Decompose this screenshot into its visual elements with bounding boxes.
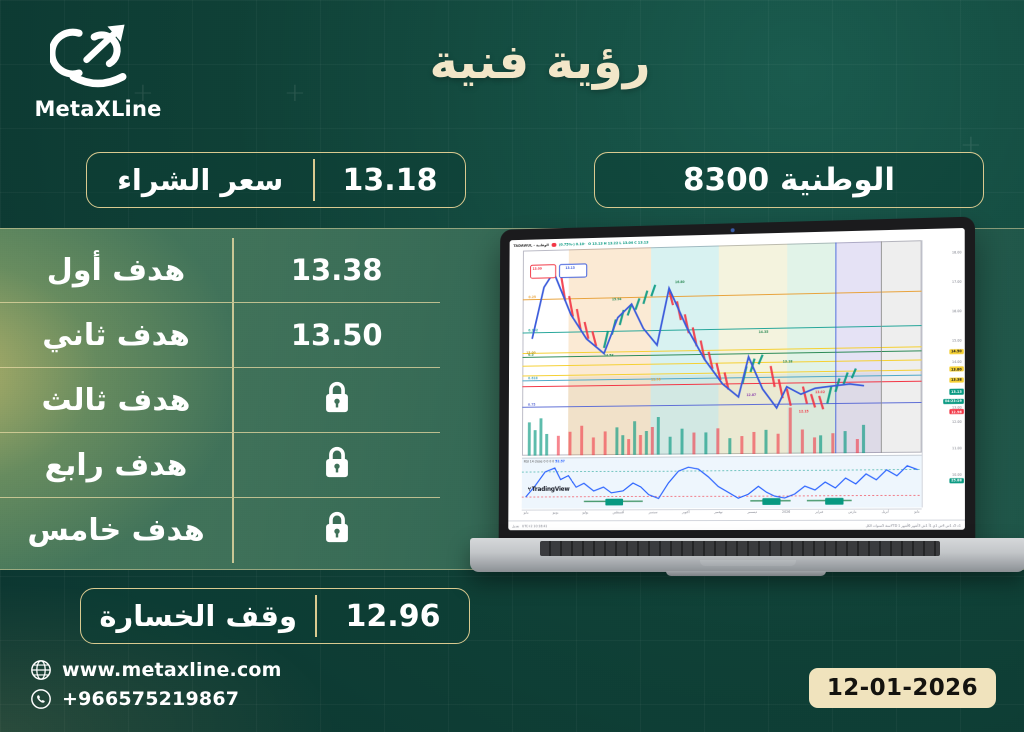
- chart-annotation: 13.18: [783, 359, 793, 363]
- time-tick: أكتوبر: [682, 510, 690, 520]
- stop-loss-value: 12.96: [317, 599, 469, 634]
- webcam-icon: [731, 228, 735, 232]
- time-tick: مايو: [524, 511, 529, 521]
- status-dot-icon: [552, 243, 556, 248]
- target-value: 13.38: [234, 253, 441, 287]
- page-title: رؤية فنية: [300, 34, 780, 90]
- metaxline-arrow-logo-icon: [50, 18, 146, 92]
- brand-name: MetaXLine: [28, 97, 168, 121]
- poster-canvas: + + + MetaXLine رؤية فنية الوطنية 8300 س…: [0, 0, 1024, 732]
- chart-annotation: 14.35: [759, 330, 769, 334]
- price-tag-stop: 12.96: [949, 409, 964, 414]
- status-left-group: تعديل UTC+2 10:16:41: [512, 524, 547, 528]
- stock-name-label: الوطنية 8300: [595, 162, 983, 198]
- footer-contact: www.metaxline.com +966575219867: [30, 659, 282, 710]
- price-tick: 14.00: [952, 360, 962, 364]
- price-tick: 17.00: [952, 280, 962, 284]
- chart-annotation: 15.00: [526, 351, 535, 355]
- target-value-locked: [234, 445, 441, 486]
- time-axis: مايو يونيو يوليو أغسطس سبتمبر أكتوبر نوف…: [522, 508, 922, 520]
- tradingview-chart: الوطنية - TADAWUL -0.10 (-0.75%) O 13.13…: [508, 228, 965, 530]
- price-tag-resistance: 13.80: [949, 366, 964, 371]
- price-tick: 10.00: [952, 473, 962, 477]
- targets-table: هدف أول 13.38 هدف ثاني 13.50 هدف ثالث هد: [0, 238, 440, 563]
- rsi-value: 52.57: [555, 459, 565, 463]
- rsi-header: RSI 14 close 0 0 0 0 52.57: [524, 459, 565, 463]
- buy-marker-label: 13.09: [532, 267, 541, 271]
- tradingview-logo: ⑂ TradingView: [528, 486, 570, 493]
- globe-icon: [30, 659, 52, 681]
- chart-annotation: 15.94: [612, 298, 622, 302]
- chart-annotation: 16.80: [675, 280, 685, 284]
- website-row[interactable]: www.metaxline.com: [30, 659, 282, 681]
- time-tick: سبتمبر: [649, 510, 658, 520]
- price-tag-volume: 25.88: [949, 478, 964, 483]
- buy-price-value: 13.18: [315, 163, 465, 198]
- volume-bars: [522, 404, 922, 456]
- entry-marker-label: 13.13: [565, 266, 574, 270]
- stop-loss-badge: وقف الخسارة 12.96: [80, 588, 470, 644]
- range-selector[interactable]: 1د 5د 1س 4س 1ي 1أ 1ش 3أشهر 6أشهر YTD 1سن…: [866, 523, 961, 527]
- price-tag-last: 13.13: [949, 389, 964, 394]
- row-divider: [232, 368, 234, 432]
- price-tag-target-high: 14.50: [949, 349, 964, 355]
- row-divider: [232, 433, 234, 497]
- table-row: هدف خامس: [0, 498, 440, 563]
- target-label: هدف رابع: [0, 448, 232, 483]
- rsi-line: [522, 456, 922, 509]
- row-divider: [232, 303, 234, 367]
- chart-annotation: 12.87: [746, 393, 756, 397]
- phone-row[interactable]: +966575219867: [30, 688, 282, 710]
- lock-icon: [322, 380, 352, 414]
- price-tick: 12.00: [952, 419, 962, 423]
- date-badge: 12-01-2026: [809, 668, 996, 708]
- buy-price-badge: سعر الشراء 13.18: [86, 152, 466, 208]
- phone-number[interactable]: +966575219867: [62, 688, 239, 710]
- target-value: 13.50: [234, 318, 441, 352]
- time-tick: ديسمبر: [747, 510, 757, 520]
- time-tick: يوليو: [582, 510, 588, 520]
- stop-loss-label: وقف الخسارة: [81, 599, 315, 633]
- rsi-pane: RSI 14 close 0 0 0 0 52.57: [522, 455, 922, 509]
- laptop-mockup: الوطنية - TADAWUL -0.10 (-0.75%) O 13.13…: [470, 222, 1024, 594]
- time-tick: يونيو: [553, 511, 559, 521]
- price-axis: 18.00 17.00 16.00 15.00 14.00 13.00 12.0…: [922, 239, 965, 507]
- time-tick: أبريل: [882, 510, 889, 520]
- tradingview-wordmark: TradingView: [532, 486, 570, 493]
- target-value-locked: [234, 510, 441, 551]
- chart-annotation: 14.58: [604, 354, 614, 358]
- pill-divider: [313, 159, 315, 201]
- time-tick: 2026: [782, 510, 790, 520]
- row-divider: [232, 498, 234, 563]
- laptop-base: [470, 538, 1024, 572]
- chart-annotation: 13.02: [815, 390, 825, 394]
- price-tick: 11.00: [952, 446, 962, 450]
- laptop-keyboard: [540, 541, 940, 556]
- table-row: هدف ثالث: [0, 368, 440, 433]
- row-divider: [232, 238, 234, 302]
- table-row: هدف أول 13.38: [0, 238, 440, 303]
- rsi-name: RSI: [524, 460, 529, 464]
- buy-price-label: سعر الشراء: [87, 163, 313, 197]
- tradingview-mark-icon: ⑂: [528, 486, 531, 493]
- volume-pane: [522, 404, 922, 456]
- price-tick: 16.00: [952, 309, 962, 313]
- lock-icon: [322, 445, 352, 479]
- time-tick: مايو: [914, 509, 919, 519]
- laptop-lid: الوطنية - TADAWUL -0.10 (-0.75%) O 13.13…: [499, 217, 976, 542]
- chart-change: -0.10 (-0.75%): [559, 242, 585, 247]
- target-value-locked: [234, 380, 441, 421]
- laptop-trackpad: [700, 560, 796, 566]
- target-label: هدف أول: [0, 253, 232, 288]
- laptop-screen: الوطنية - TADAWUL -0.10 (-0.75%) O 13.13…: [508, 228, 965, 530]
- chart-annotation: 11.98: [651, 378, 661, 382]
- timezone-clock[interactable]: UTC+2 10:16:41: [522, 524, 547, 528]
- adjust-toggle[interactable]: تعديل: [512, 524, 519, 528]
- table-row: هدف ثاني 13.50: [0, 303, 440, 368]
- laptop-base-lip: [666, 571, 826, 576]
- chart-symbol: الوطنية - TADAWUL: [513, 243, 548, 248]
- price-tick: 18.00: [952, 251, 962, 255]
- price-tick: 15.00: [952, 339, 962, 343]
- brand-logo: MetaXLine: [28, 18, 168, 121]
- target-label: هدف خامس: [0, 513, 232, 548]
- time-tick: مارس: [848, 510, 856, 520]
- price-tag-last-time: 04:23:19: [943, 399, 964, 405]
- rsi-params: 14 close 0 0 0 0: [530, 459, 554, 463]
- target-label: هدف ثالث: [0, 383, 232, 418]
- time-tick: أغسطس: [612, 510, 624, 520]
- lock-icon: [322, 510, 352, 544]
- chart-ohlc: O 13.13 H 13.22 L 13.04 C 13.13: [588, 240, 648, 246]
- time-tick: نوفمبر: [714, 510, 723, 520]
- table-row: هدف رابع: [0, 433, 440, 498]
- time-tick: فبراير: [815, 510, 823, 520]
- website-url[interactable]: www.metaxline.com: [62, 659, 282, 681]
- chart-status-bar: تعديل UTC+2 10:16:41 1د 5د 1س 4س 1ي 1أ 1…: [508, 520, 965, 531]
- whatsapp-icon: [30, 688, 52, 710]
- price-tag-target-1: 13.38: [949, 377, 964, 382]
- target-label: هدف ثاني: [0, 318, 232, 353]
- pill-divider: [315, 595, 317, 637]
- stock-name-badge: الوطنية 8300: [594, 152, 984, 208]
